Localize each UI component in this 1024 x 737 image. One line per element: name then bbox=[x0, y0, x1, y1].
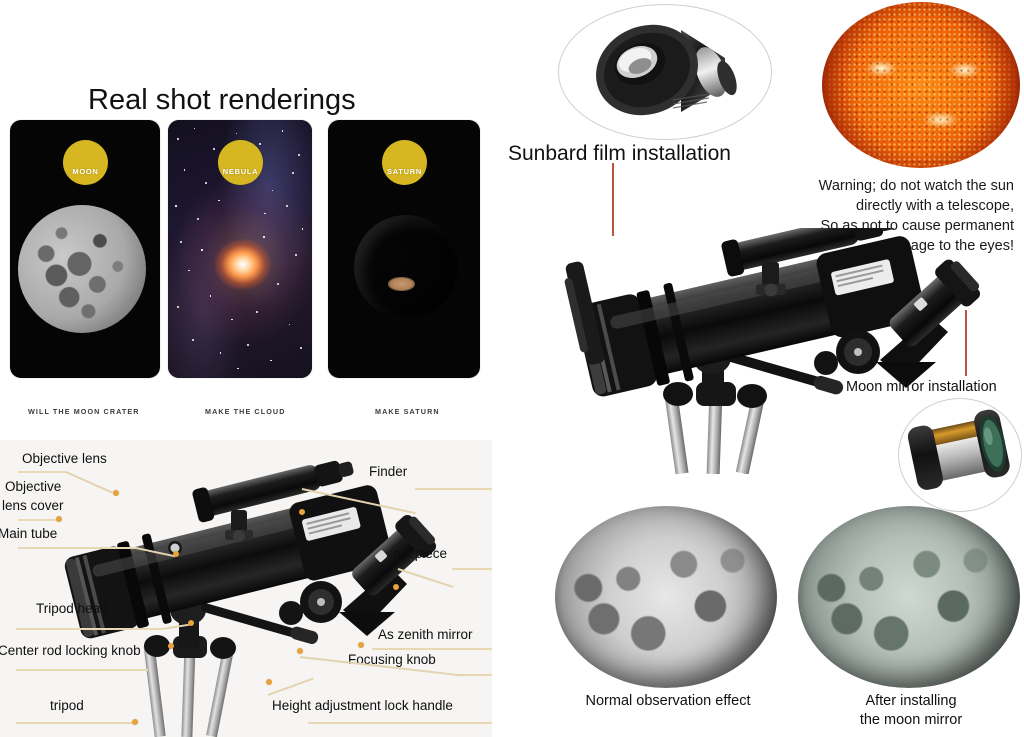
sun-granulation bbox=[822, 2, 1020, 168]
rendering-caption-nebula: MAKE THE CLOUD bbox=[205, 407, 285, 416]
label-as-zenith-mirror: As zenith mirror bbox=[378, 627, 473, 642]
rendering-card-nebula[interactable]: NEBULA bbox=[168, 120, 312, 378]
leader-center-rod-locking-knob bbox=[16, 669, 148, 671]
dot-objective-lens-cover bbox=[56, 516, 62, 522]
dot-tripod-head bbox=[188, 620, 194, 626]
label-height-adjustment-lock-handle: Height adjustment lock handle bbox=[272, 698, 453, 713]
moon-mirror-eyepiece-image bbox=[906, 404, 1018, 500]
dot-objective-lens bbox=[113, 490, 119, 496]
card-badge-moon: MOON bbox=[63, 140, 108, 185]
moon-normal-observation-caption: Normal observation effect bbox=[560, 692, 776, 711]
label-objective-lens-cover-line2: lens cover bbox=[2, 498, 64, 513]
warning-line-2: directly with a telescope, bbox=[760, 196, 1014, 216]
moon-mirror-pointer-line bbox=[965, 310, 967, 376]
moon-mirror-label: Moon mirror installation bbox=[846, 379, 997, 395]
leader-tripod-head bbox=[16, 628, 162, 630]
label-tripod: tripod bbox=[50, 698, 84, 713]
leader-focusing-knob bbox=[459, 674, 492, 676]
card-badge-nebula: NEBULA bbox=[218, 140, 263, 185]
label-main-tube: Main tube bbox=[0, 526, 57, 541]
planet-image bbox=[354, 215, 458, 319]
label-eyepiece: eyepiece bbox=[393, 546, 447, 561]
dot-height-adjustment-lock-handle bbox=[266, 679, 272, 685]
planet-spot bbox=[388, 277, 415, 291]
dot-as-zenith-mirror bbox=[358, 642, 364, 648]
label-tripod-head: Tripod head bbox=[36, 601, 108, 616]
sunbard-eyepiece-image bbox=[585, 14, 745, 128]
dot-finder bbox=[299, 509, 305, 515]
leader-height-adjustment-lock-handle bbox=[308, 722, 492, 724]
sun-photo bbox=[822, 2, 1020, 168]
leader-eyepiece bbox=[452, 568, 492, 570]
dot-main-tube bbox=[173, 551, 179, 557]
label-objective-lens-cover-line1: Objective bbox=[5, 479, 61, 494]
moon-with-mirror-image bbox=[798, 506, 1020, 688]
leader-main-tube bbox=[18, 547, 136, 549]
moon-normal-observation-image bbox=[555, 506, 777, 688]
focusing-knob bbox=[279, 581, 342, 625]
rendering-caption-moon: WILL THE MOON CRATER bbox=[28, 407, 140, 416]
card-badge-saturn: SATURN bbox=[382, 140, 427, 185]
label-focusing-knob: Focusing knob bbox=[348, 652, 436, 667]
parts-diagram-panel: Objective lens Objective lens cover Main… bbox=[0, 440, 492, 737]
label-objective-lens: Objective lens bbox=[22, 451, 107, 466]
sunbard-film-title: Sunbard film installation bbox=[508, 142, 731, 166]
sunbard-pointer-line bbox=[612, 163, 614, 236]
rendering-card-saturn[interactable]: SATURN bbox=[328, 120, 480, 378]
tripod-legs bbox=[144, 635, 236, 737]
leader-objective-lens-cover bbox=[18, 519, 58, 521]
leader-objective-lens bbox=[18, 471, 66, 473]
warning-line-1: Warning; do not watch the sun bbox=[760, 176, 1014, 196]
label-finder: Finder bbox=[369, 464, 407, 479]
dot-tripod bbox=[132, 719, 138, 725]
moon-with-mirror-caption-line1: After installing bbox=[803, 692, 1019, 711]
renderings-title: Real shot renderings bbox=[88, 84, 408, 117]
leader-finder bbox=[415, 488, 492, 490]
moon-with-mirror-caption: After installing the moon mirror bbox=[803, 692, 1019, 730]
rendering-card-moon[interactable]: MOON bbox=[10, 120, 160, 378]
tripod-legs-b bbox=[663, 382, 767, 474]
dot-eyepiece bbox=[393, 584, 399, 590]
moon-image bbox=[18, 205, 146, 333]
moon-with-mirror-caption-line2: the moon mirror bbox=[803, 711, 1019, 730]
poster-root: Real shot renderings MOON WILL THE MOON … bbox=[0, 0, 1024, 737]
label-center-rod-locking-knob: Center rod locking knob bbox=[0, 643, 141, 658]
leader-as-zenith-mirror bbox=[372, 648, 492, 650]
dot-center-rod-locking-knob bbox=[168, 643, 174, 649]
rendering-caption-saturn: MAKE SATURN bbox=[375, 407, 440, 416]
leader-tripod bbox=[16, 722, 132, 724]
dot-focusing-knob bbox=[297, 648, 303, 654]
